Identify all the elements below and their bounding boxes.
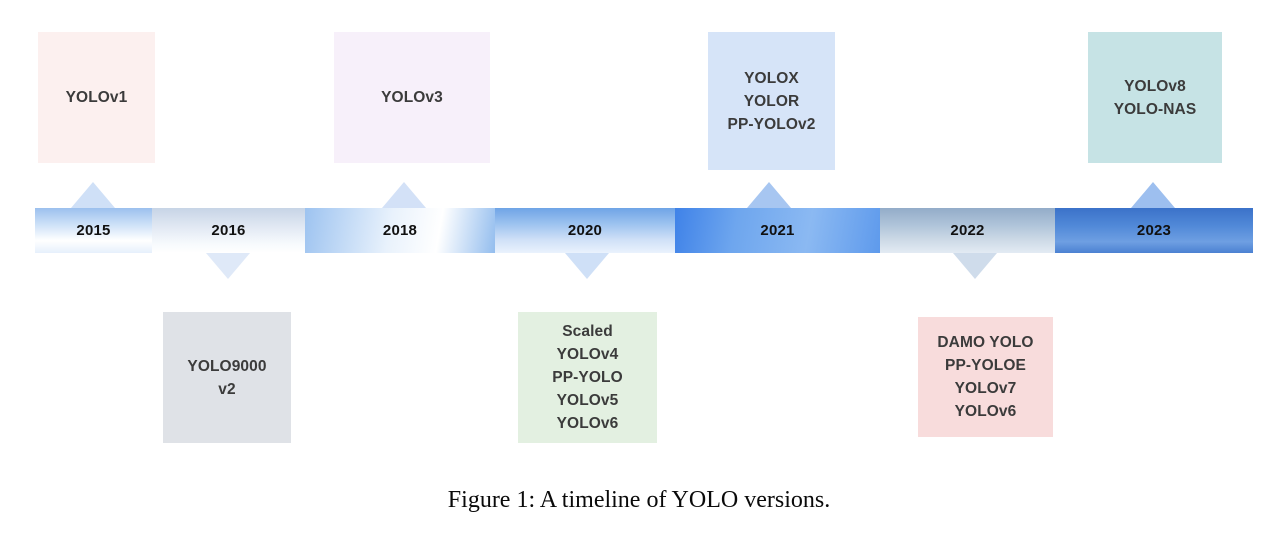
timeline-segment-2016: 2016 (152, 208, 305, 253)
connector-2015-up-arrow-icon (71, 182, 115, 208)
version-box-label-yolov3: YOLOv3 (381, 86, 443, 109)
year-label-2022: 2022 (950, 222, 984, 239)
figure-caption: Figure 1: A timeline of YOLO versions. (0, 487, 1278, 514)
timeline-segment-2021: 2021 (675, 208, 880, 253)
year-label-2015: 2015 (76, 222, 110, 239)
timeline-segment-2020: 2020 (495, 208, 675, 253)
version-box-scaled-yolov4-group: Scaled YOLOv4 PP-YOLO YOLOv5 YOLOv6 (518, 312, 657, 443)
yolo-timeline-figure: YOLOv1YOLOv3YOLOX YOLOR PP-YOLOv2YOLOv8 … (0, 0, 1278, 538)
timeline-segment-2023: 2023 (1055, 208, 1253, 253)
year-label-2018: 2018 (383, 222, 417, 239)
connector-2022-down-arrow-icon (953, 253, 997, 279)
year-label-2021: 2021 (760, 222, 794, 239)
connector-2021-up-arrow-icon (747, 182, 791, 208)
connector-2016-down-arrow-icon (206, 253, 250, 279)
connector-2020-down-arrow-icon (565, 253, 609, 279)
connector-2018-up-arrow-icon (382, 182, 426, 208)
version-box-label-yolox-group: YOLOX YOLOR PP-YOLOv2 (728, 67, 816, 136)
version-box-label-scaled-yolov4-group: Scaled YOLOv4 PP-YOLO YOLOv5 YOLOv6 (552, 320, 622, 435)
version-box-yolox-group: YOLOX YOLOR PP-YOLOv2 (708, 32, 835, 170)
year-label-2023: 2023 (1137, 222, 1171, 239)
version-box-yolo9000-group: YOLO9000 v2 (163, 312, 291, 443)
year-label-2020: 2020 (568, 222, 602, 239)
year-label-2016: 2016 (211, 222, 245, 239)
version-box-yolov3: YOLOv3 (334, 32, 490, 163)
version-box-yolov8-group: YOLOv8 YOLO-NAS (1088, 32, 1222, 163)
version-box-damo-yolo-group: DAMO YOLO PP-YOLOE YOLOv7 YOLOv6 (918, 317, 1053, 437)
connector-2023-up-arrow-icon (1131, 182, 1175, 208)
timeline-segment-2022: 2022 (880, 208, 1055, 253)
version-box-label-damo-yolo-group: DAMO YOLO PP-YOLOE YOLOv7 YOLOv6 (937, 331, 1033, 423)
version-box-label-yolov1: YOLOv1 (66, 86, 128, 109)
version-box-yolov1: YOLOv1 (38, 32, 155, 163)
version-box-label-yolov8-group: YOLOv8 YOLO-NAS (1114, 75, 1197, 121)
version-box-label-yolo9000-group: YOLO9000 v2 (187, 355, 266, 401)
timeline-bar: 2015201620182020202120222023 (35, 208, 1253, 253)
timeline-segment-2018: 2018 (305, 208, 495, 253)
timeline-segment-2015: 2015 (35, 208, 152, 253)
